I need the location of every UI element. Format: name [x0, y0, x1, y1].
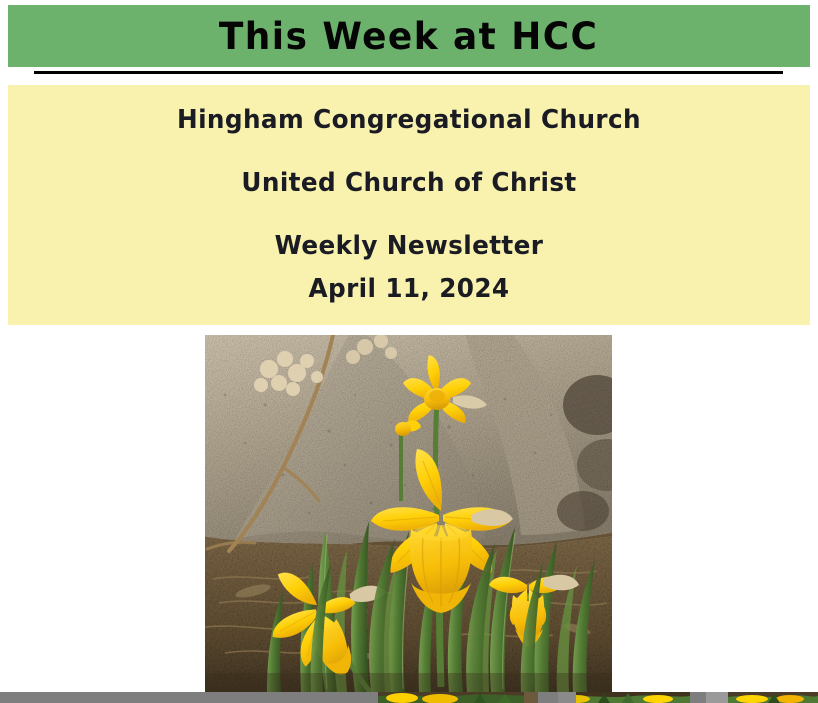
masthead-banner: This Week at HCC [8, 5, 810, 67]
info-panel: Hingham Congregational Church United Chu… [8, 85, 810, 325]
photo-thumbnail-3[interactable] [706, 692, 818, 703]
church-name: Hingham Congregational Church [28, 107, 790, 133]
thumbnail-3-image [706, 692, 818, 703]
publication-name: Weekly Newsletter [28, 233, 790, 259]
thumbnail-1-image [378, 692, 538, 703]
photo-thumbnail-1[interactable] [378, 692, 538, 703]
page-title: This Week at HCC [219, 18, 598, 55]
issue-date: April 11, 2024 [28, 276, 790, 302]
newsletter-page: This Week at HCC Hingham Congregational … [0, 0, 818, 692]
thumbnail-2-image [558, 692, 690, 703]
masthead-divider [34, 71, 783, 74]
feature-photo [205, 335, 612, 692]
denomination: United Church of Christ [28, 170, 790, 196]
photo-thumbnail-2[interactable] [558, 692, 690, 703]
bottom-strip[interactable] [0, 692, 818, 703]
daffodil-photo-illustration [205, 335, 612, 692]
